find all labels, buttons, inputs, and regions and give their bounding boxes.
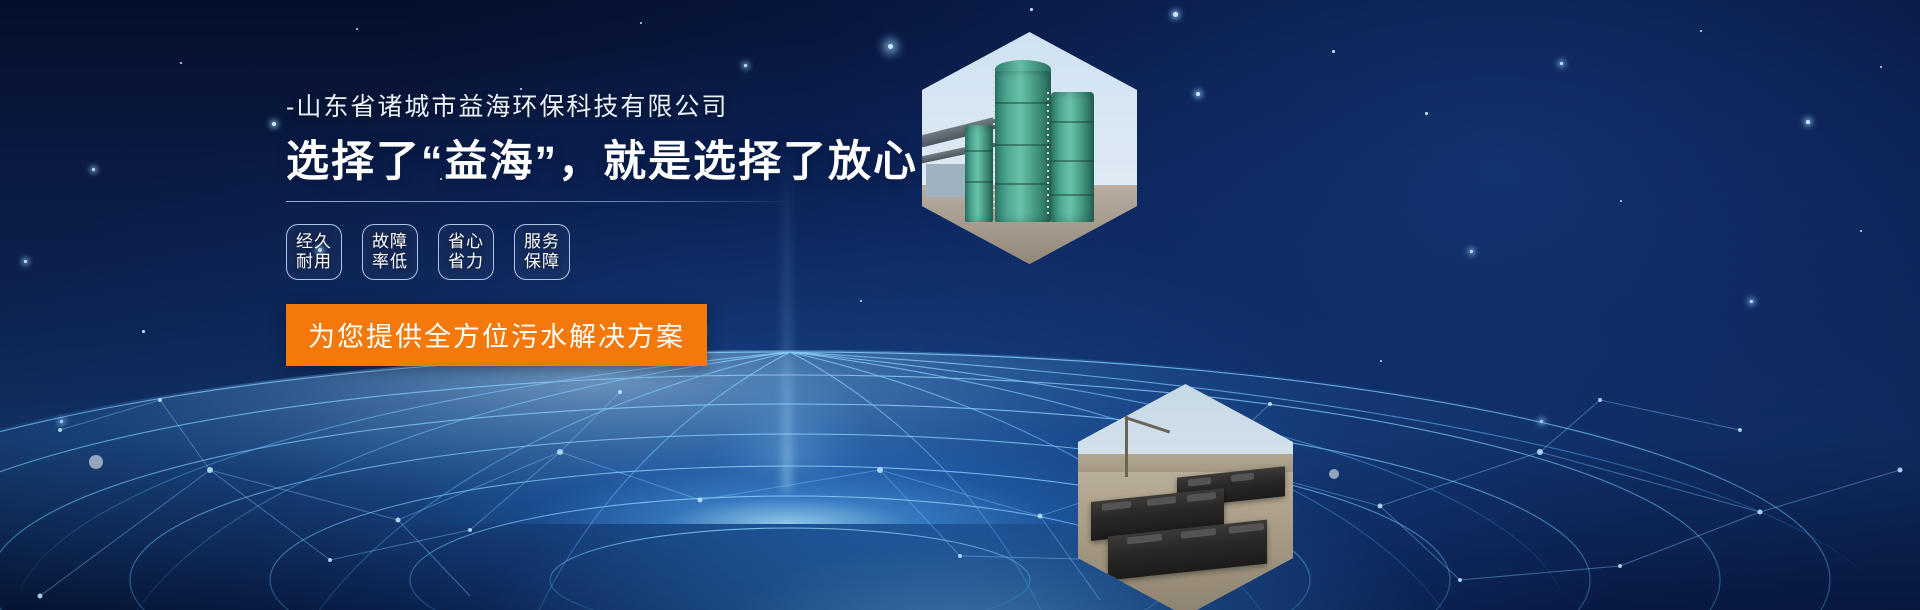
feature-badge-durable[interactable]: 经久 耐用	[286, 224, 342, 280]
photo-tower-small	[965, 125, 993, 222]
badge-line-2: 保障	[524, 252, 560, 272]
feature-badge-list: 经久 耐用 故障 率低 省心 省力 服务 保障	[286, 224, 846, 280]
star	[142, 330, 145, 333]
star	[60, 420, 63, 423]
star	[744, 64, 747, 67]
globe-wireframe-icon	[0, 340, 1920, 610]
star	[1880, 66, 1882, 68]
star	[24, 260, 27, 263]
star	[888, 44, 893, 49]
feature-badge-service[interactable]: 服务 保障	[514, 224, 570, 280]
star	[1470, 250, 1473, 253]
hero-copy: -山东省诸城市益海环保科技有限公司 选择了“益海”，就是选择了放心 经久 耐用 …	[286, 92, 846, 366]
star	[1425, 112, 1428, 115]
photo-ladder	[1047, 92, 1049, 217]
page-title: 选择了“益海”，就是选择了放心	[286, 138, 846, 187]
photo-hex-green-scrubber-towers[interactable]	[922, 32, 1137, 264]
star	[520, 88, 522, 90]
badge-line-2: 率低	[372, 252, 408, 272]
feature-badge-worry-free[interactable]: 省心 省力	[438, 224, 494, 280]
star	[640, 22, 642, 24]
star	[92, 168, 95, 171]
star	[1030, 8, 1033, 11]
star	[860, 300, 862, 302]
badge-line-1: 服务	[524, 232, 560, 252]
divider	[286, 201, 790, 202]
badge-line-1: 故障	[372, 232, 408, 252]
badge-line-2: 省力	[448, 252, 484, 272]
star	[1750, 300, 1753, 303]
star	[1380, 360, 1382, 362]
star	[1700, 30, 1702, 32]
badge-line-2: 耐用	[296, 252, 332, 272]
cta-banner[interactable]: 为您提供全方位污水解决方案	[286, 304, 707, 366]
badge-line-1: 省心	[448, 232, 484, 252]
photo-tower-right	[1051, 92, 1094, 222]
hero-banner: -山东省诸城市益海环保科技有限公司 选择了“益海”，就是选择了放心 经久 耐用 …	[0, 0, 1920, 610]
star	[1196, 92, 1200, 96]
photo-crane-mast	[1125, 416, 1128, 476]
star	[272, 122, 276, 126]
star	[1332, 50, 1335, 53]
company-subtitle: -山东省诸城市益海环保科技有限公司	[286, 92, 846, 122]
star	[1540, 420, 1543, 423]
feature-badge-low-failure[interactable]: 故障 率低	[362, 224, 418, 280]
star	[1560, 62, 1563, 65]
star	[1620, 200, 1622, 202]
star	[1806, 120, 1810, 124]
star	[1173, 12, 1178, 17]
photo-hex-buried-sewage-tanks[interactable]	[1078, 384, 1293, 610]
star	[356, 28, 358, 30]
star	[1860, 230, 1862, 232]
photo-tower-main	[995, 71, 1051, 222]
photo-ladder	[993, 69, 995, 213]
badge-line-1: 经久	[296, 232, 332, 252]
star	[180, 62, 182, 64]
